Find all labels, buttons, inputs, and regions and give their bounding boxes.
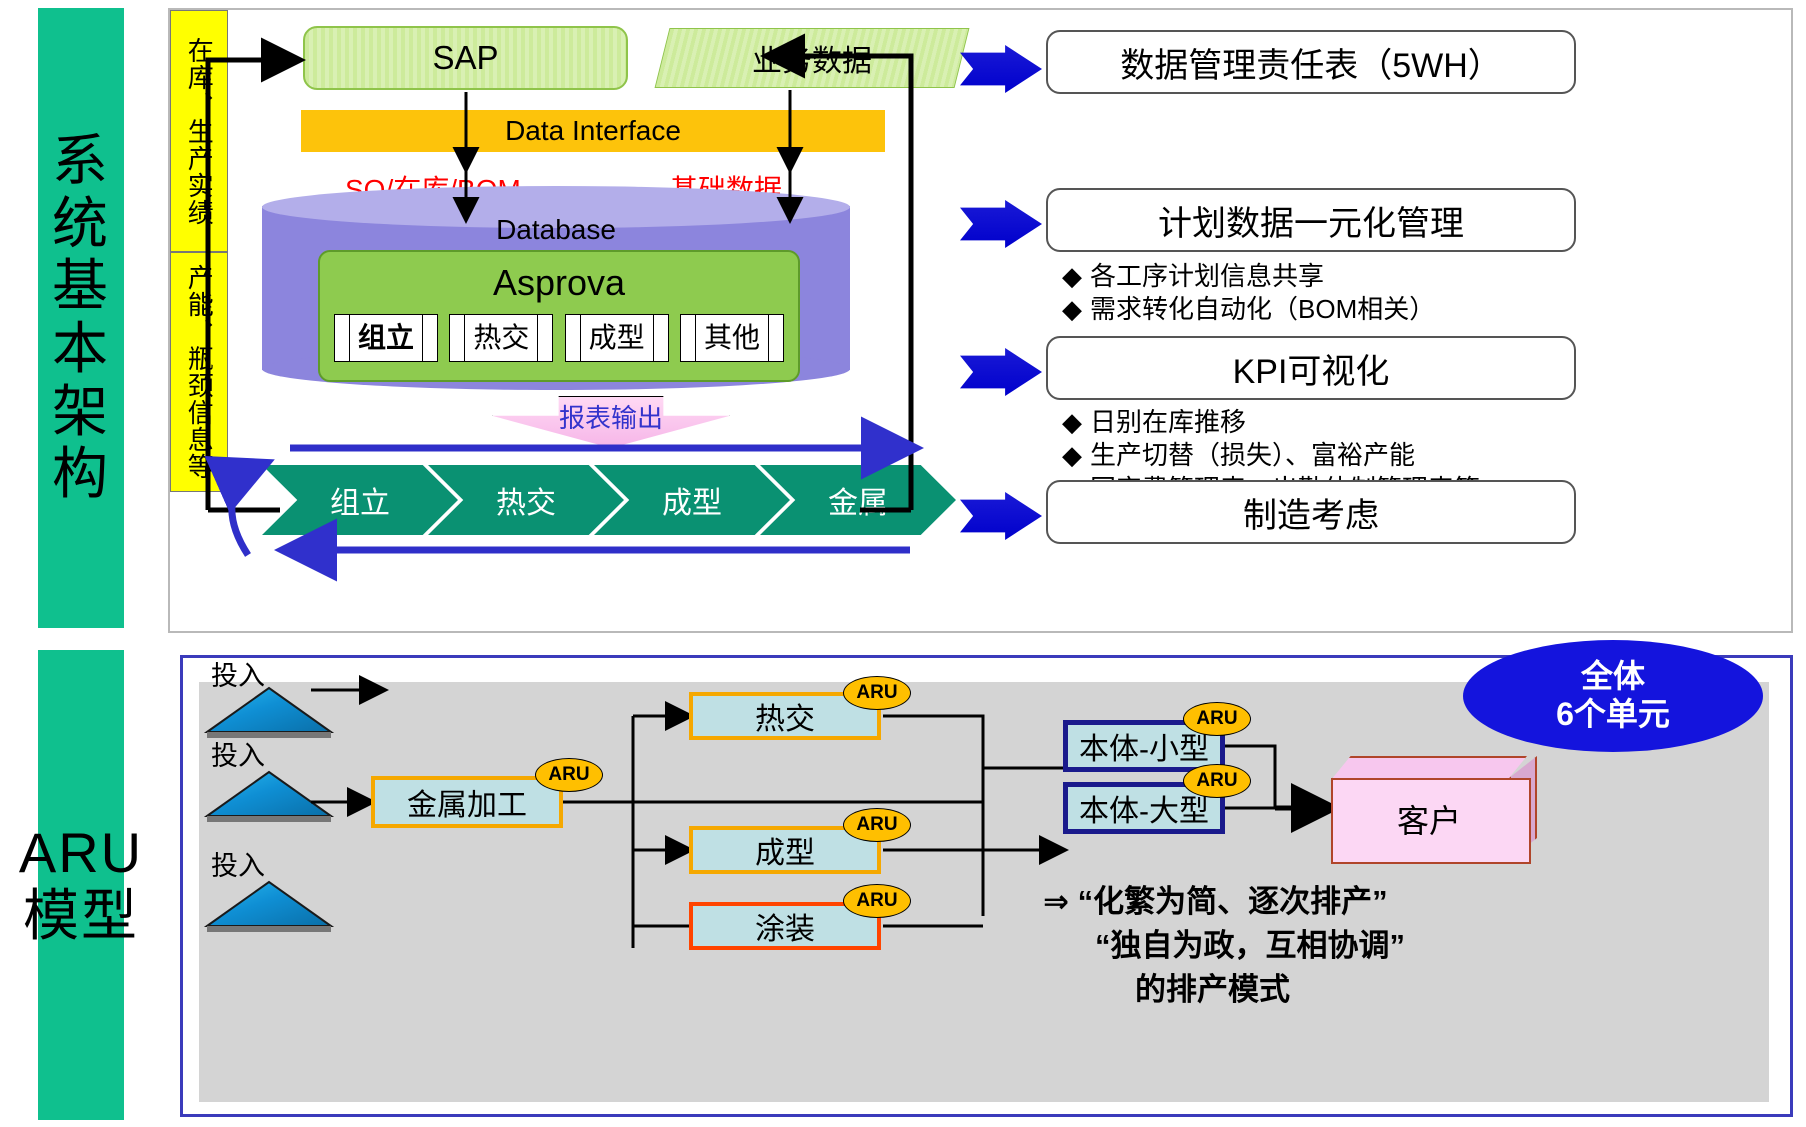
aru-badge-heat: ARU bbox=[843, 676, 911, 710]
aru-badge-metal-label: ARU bbox=[548, 764, 589, 786]
total-units-ellipse: 全体 6个单元 bbox=[1463, 640, 1763, 752]
architecture-panel: SAP 业务数据 Data Interface SO/在库/BOM 基础数据 在… bbox=[168, 8, 1793, 633]
left-yellow-feedback-text: 在库、生产实绩 bbox=[185, 37, 214, 226]
asprova-cell-0[interactable]: 组立 bbox=[334, 314, 438, 362]
aru-badge-metal: ARU bbox=[535, 758, 603, 792]
aru-badge-forming: ARU bbox=[843, 808, 911, 842]
aru-node-painting-label: 涂装 bbox=[755, 904, 815, 948]
input-label-0: 投入 bbox=[211, 654, 265, 693]
right-yellow-feedback-bar: 产能、瓶颈信息等 bbox=[170, 252, 228, 492]
bullet-diamond-icon: ◆ bbox=[1062, 407, 1082, 437]
business-data-parallelogram[interactable]: 业务数据 bbox=[655, 28, 970, 88]
result-1-bullet-1: 需求转化自动化（BOM相关） bbox=[1090, 294, 1435, 324]
sidebar-label-aru-text: ARU模型 bbox=[19, 822, 143, 947]
aru-badge-body-small: ARU bbox=[1183, 702, 1251, 736]
asprova-box[interactable]: Asprova 组立 热交 成型 其他 bbox=[318, 250, 800, 382]
aru-panel: 投入 投入 投入 bbox=[180, 655, 1793, 1117]
customer-box[interactable]: 客户 bbox=[1331, 756, 1537, 866]
report-output-arrow: 报表输出 bbox=[492, 396, 730, 448]
conclusion-line-2: 的排产模式 bbox=[1043, 968, 1405, 1012]
conclusion-line-0: ⇒ “化繁为简、逐次排产” bbox=[1043, 880, 1405, 924]
total-units-line1: 全体 bbox=[1581, 658, 1645, 696]
bullet-diamond-icon: ◆ bbox=[1062, 440, 1082, 470]
result-box-3[interactable]: 制造考虑 bbox=[1046, 480, 1576, 544]
asprova-cell-2[interactable]: 成型 bbox=[565, 314, 669, 362]
sidebar-label-architecture-text: 系统基本架构 bbox=[38, 130, 124, 506]
aru-badge-heat-label: ARU bbox=[856, 682, 897, 704]
data-interface-bar[interactable]: Data Interface bbox=[301, 110, 885, 152]
result-box-2-title: KPI可视化 bbox=[1233, 344, 1390, 393]
asprova-cell-0-label: 组立 bbox=[349, 315, 423, 361]
aru-badge-forming-label: ARU bbox=[856, 814, 897, 836]
process-chevron-0-label: 组立 bbox=[330, 478, 390, 522]
data-interface-label: Data Interface bbox=[505, 115, 681, 147]
block-arrow-3 bbox=[960, 492, 1042, 540]
aru-node-heat-label: 热交 bbox=[755, 694, 815, 738]
report-output-label: 报表输出 bbox=[492, 398, 730, 435]
input-label-1: 投入 bbox=[211, 734, 265, 773]
aru-node-metal-label: 金属加工 bbox=[407, 780, 527, 824]
customer-label: 客户 bbox=[1331, 796, 1527, 842]
aru-node-body-small-label: 本体-小型 bbox=[1079, 724, 1209, 768]
sap-box[interactable]: SAP bbox=[303, 26, 628, 90]
bullet-diamond-icon: ◆ bbox=[1062, 261, 1082, 291]
result-box-0[interactable]: 数据管理责任表（5WH） bbox=[1046, 30, 1576, 94]
conclusion-line-1: “独自为政，互相协调” bbox=[1043, 924, 1405, 968]
result-box-2[interactable]: KPI可视化 bbox=[1046, 336, 1576, 400]
process-chevron-0[interactable]: 组立 bbox=[262, 465, 458, 535]
business-data-label: 业务数据 bbox=[752, 36, 872, 80]
result-box-1-bullets: ◆各工序计划信息共享 ◆需求转化自动化（BOM相关） bbox=[1062, 260, 1435, 327]
asprova-cell-1-label: 热交 bbox=[464, 315, 538, 361]
sap-box-label: SAP bbox=[432, 39, 498, 77]
conclusion-text: ⇒ “化繁为简、逐次排产” “独自为政，互相协调” 的排产模式 bbox=[1043, 880, 1405, 1012]
result-1-bullet-0: 各工序计划信息共享 bbox=[1090, 261, 1324, 291]
result-box-0-title: 数据管理责任表（5WH） bbox=[1120, 38, 1502, 87]
input-label-2: 投入 bbox=[211, 844, 265, 883]
aru-badge-body-small-label: ARU bbox=[1196, 708, 1237, 730]
result-box-1[interactable]: 计划数据一元化管理 bbox=[1046, 188, 1576, 252]
aru-badge-body-large-label: ARU bbox=[1196, 770, 1237, 792]
left-yellow-feedback-bar: 在库、生产实绩 bbox=[170, 10, 228, 252]
result-2-bullet-1: 生产切替（损失）、富裕产能 bbox=[1090, 440, 1415, 470]
result-2-bullet-0: 日别在库推移 bbox=[1090, 407, 1246, 437]
asprova-title: Asprova bbox=[320, 262, 798, 304]
aru-badge-painting-label: ARU bbox=[856, 890, 897, 912]
bullet-diamond-icon: ◆ bbox=[1062, 294, 1082, 324]
block-arrow-2 bbox=[960, 348, 1042, 396]
process-chevron-1-label: 热交 bbox=[496, 478, 556, 522]
customer-box-top bbox=[1331, 756, 1527, 780]
aru-node-metal[interactable]: 金属加工 bbox=[371, 776, 563, 828]
aru-node-body-large-label: 本体-大型 bbox=[1079, 786, 1209, 830]
result-box-3-title: 制造考虑 bbox=[1243, 488, 1379, 537]
database-label: Database bbox=[262, 214, 850, 246]
result-box-1-title: 计划数据一元化管理 bbox=[1158, 196, 1464, 245]
aru-canvas bbox=[199, 682, 1769, 1102]
aru-badge-painting: ARU bbox=[843, 884, 911, 918]
asprova-cell-1[interactable]: 热交 bbox=[449, 314, 553, 362]
sidebar-label-aru: ARU模型 bbox=[38, 650, 124, 1120]
asprova-cell-2-label: 成型 bbox=[580, 315, 654, 361]
process-chevron-2-label: 成型 bbox=[662, 478, 722, 522]
right-yellow-feedback-text: 产能、瓶颈信息等 bbox=[185, 264, 214, 480]
process-chevron-3-label: 金属 bbox=[828, 478, 888, 522]
block-arrow-0 bbox=[960, 45, 1042, 93]
asprova-cell-3[interactable]: 其他 bbox=[680, 314, 784, 362]
sidebar-label-architecture: 系统基本架构 bbox=[38, 8, 124, 628]
aru-node-forming-label: 成型 bbox=[755, 828, 815, 872]
slide-root: 系统基本架构 ARU模型 SAP 业务数据 Data Interface SO/… bbox=[0, 0, 1806, 1127]
aru-badge-body-large: ARU bbox=[1183, 764, 1251, 798]
asprova-cell-3-label: 其他 bbox=[695, 315, 769, 361]
total-units-line2: 6个单元 bbox=[1556, 696, 1670, 734]
block-arrow-1 bbox=[960, 200, 1042, 248]
